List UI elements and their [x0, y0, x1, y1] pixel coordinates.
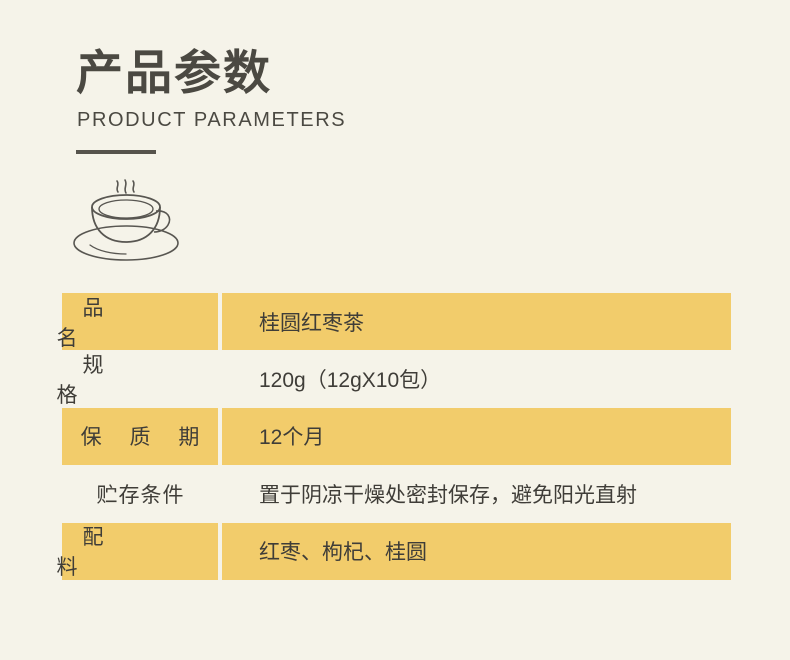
row-label: 贮存条件: [62, 465, 218, 522]
row-value: 红枣、枸杞、桂圆: [222, 523, 731, 580]
row-label: 保 质 期: [62, 408, 218, 465]
title-underline-rule: [76, 150, 156, 154]
page-header: 产品参数 PRODUCT PARAMETERS: [76, 44, 716, 154]
table-row: 配 料 红枣、枸杞、桂圆: [62, 523, 731, 580]
teacup-icon: [64, 166, 188, 274]
product-parameters-page: 产品参数 PRODUCT PARAMETERS 品 名 桂圆红枣茶: [0, 0, 790, 660]
table-row: 规 格 120g（12gX10包）: [62, 350, 731, 407]
row-label: 配 料: [62, 523, 218, 580]
row-label: 品 名: [62, 293, 218, 350]
table-row: 贮存条件 置于阴凉干燥处密封保存，避免阳光直射: [62, 465, 731, 522]
page-title: 产品参数: [76, 44, 716, 102]
row-value: 桂圆红枣茶: [222, 293, 731, 350]
row-value: 120g（12gX10包）: [222, 350, 731, 407]
row-label: 规 格: [62, 350, 218, 407]
table-row: 保 质 期 12个月: [62, 408, 731, 465]
row-value: 置于阴凉干燥处密封保存，避免阳光直射: [222, 465, 731, 522]
page-subtitle: PRODUCT PARAMETERS: [77, 107, 716, 133]
teacup-icon-svg: [64, 166, 188, 274]
table-row: 品 名 桂圆红枣茶: [62, 293, 731, 350]
row-value: 12个月: [222, 408, 731, 465]
parameters-table: 品 名 桂圆红枣茶 规 格 120g（12gX10包） 保 质 期 12个月 贮…: [62, 293, 731, 580]
